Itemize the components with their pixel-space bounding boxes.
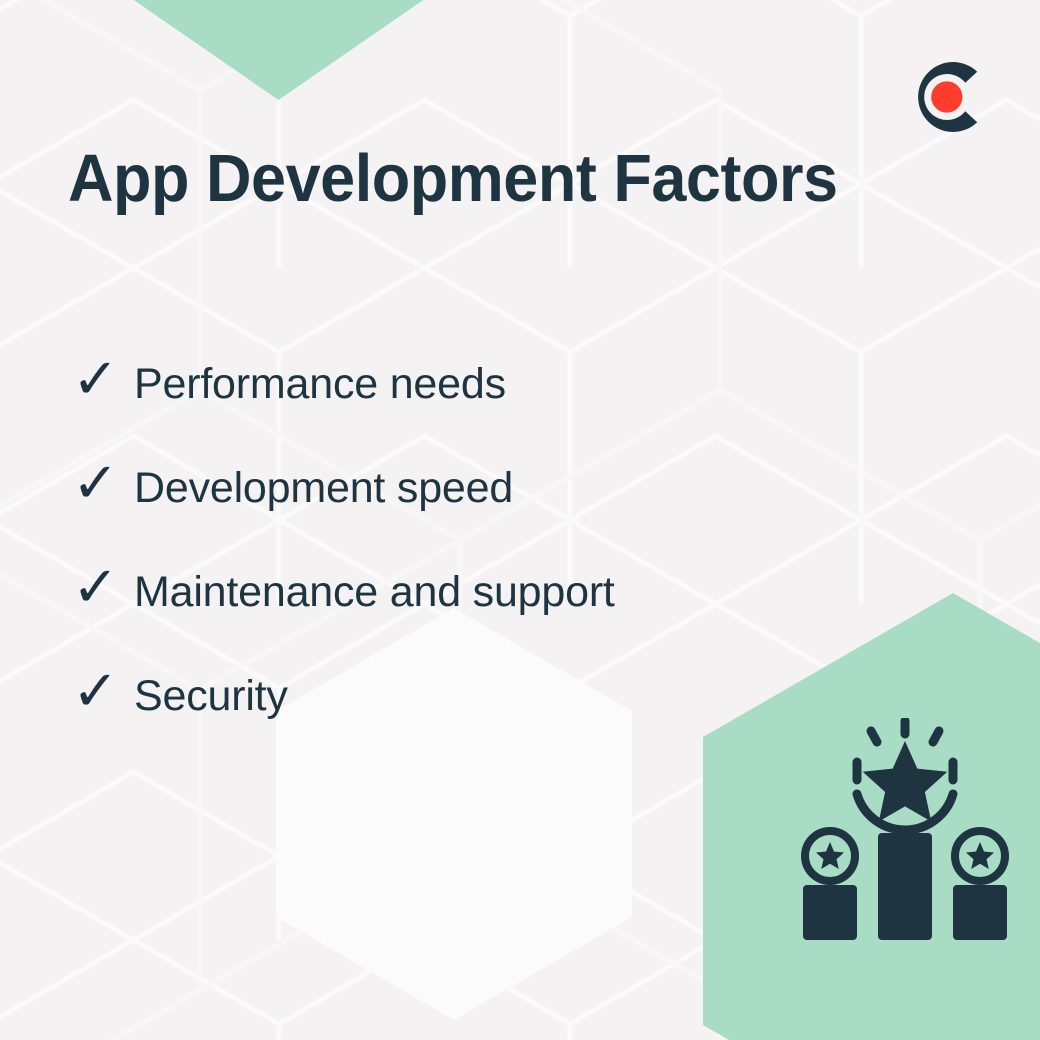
factors-checklist: ✓ Performance needs ✓ Development speed … <box>72 352 832 768</box>
podium-award-icon <box>800 718 1010 943</box>
list-item: ✓ Development speed <box>72 456 832 560</box>
right-medal-star-icon <box>955 831 1005 881</box>
green-hexagon-top-left <box>133 0 424 100</box>
check-icon: ✓ <box>72 352 134 408</box>
left-podium-block <box>803 885 857 940</box>
list-item: ✓ Performance needs <box>72 352 832 456</box>
list-item-label: Performance needs <box>134 360 506 409</box>
graphic-canvas: App Development Factors ✓ Performance ne… <box>0 0 1040 1040</box>
check-icon: ✓ <box>72 664 134 720</box>
hero-star-icon <box>863 741 948 822</box>
list-item: ✓ Maintenance and support <box>72 560 832 664</box>
page-title: App Development Factors <box>68 143 895 215</box>
list-item-label: Development speed <box>134 464 513 513</box>
clockwise-c-logo[interactable] <box>899 51 991 143</box>
logo-dot-icon <box>931 81 962 112</box>
list-item-label: Maintenance and support <box>134 568 615 617</box>
list-item-label: Security <box>134 672 288 721</box>
right-podium-block <box>953 885 1007 940</box>
check-icon: ✓ <box>72 456 134 512</box>
left-medal-star-icon <box>805 831 855 881</box>
list-item: ✓ Security <box>72 664 832 768</box>
center-podium-block <box>878 833 932 940</box>
check-icon: ✓ <box>72 560 134 616</box>
